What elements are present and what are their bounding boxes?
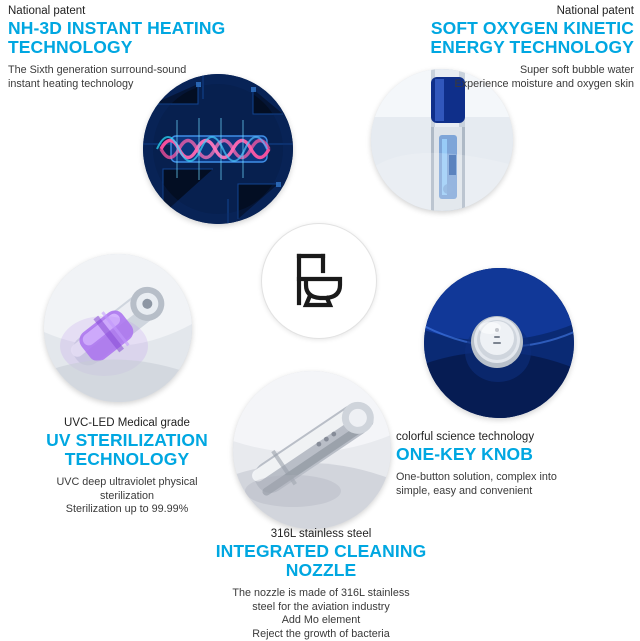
feature-nozzle-kicker: 316L stainless steel [182,527,460,541]
feature-uv-text: UVC-LED Medical grade UV STERILIZATION T… [2,416,252,517]
instant-heating-photo [143,74,293,224]
feature-heating-text: National patent NH-3D INSTANT HEATING TE… [8,4,268,91]
feature-heating-title: NH-3D INSTANT HEATING TECHNOLOGY [8,19,268,57]
feature-uv-title: UV STERILIZATION TECHNOLOGY [2,431,252,469]
feature-uv-desc: UVC deep ultraviolet physical sterilizat… [2,476,252,517]
stainless-nozzle-photo [233,371,391,529]
uv-nozzle-artwork [44,254,192,402]
uv-sterilization-photo [44,254,192,402]
feature-uv-kicker: UVC-LED Medical grade [2,416,252,430]
knob-artwork [424,268,574,418]
one-key-knob-photo [424,268,574,418]
feature-heating-desc: The Sixth generation surround-sound inst… [8,64,268,91]
feature-nozzle-title: INTEGRATED CLEANING NOZZLE [182,542,460,580]
feature-nozzle-text: 316L stainless steel INTEGRATED CLEANING… [182,527,460,641]
feature-oxygen-desc: Super soft bubble water Experience moist… [370,64,634,91]
feature-heating-kicker: National patent [8,4,268,18]
nozzle-artwork [233,371,391,529]
feature-knob-kicker: colorful science technology [396,430,636,444]
feature-oxygen-kicker: National patent [370,4,634,18]
feature-nozzle-desc: The nozzle is made of 316L stainless ste… [182,587,460,641]
feature-knob-title: ONE-KEY KNOB [396,445,636,464]
heating-circuit-artwork [143,74,293,224]
feature-oxygen-title: SOFT OXYGEN KINETIC ENERGY TECHNOLOGY [370,19,634,57]
infographic-stage: National patent NH-3D INSTANT HEATING TE… [0,0,640,634]
feature-oxygen-text: National patent SOFT OXYGEN KINETIC ENER… [370,4,634,91]
feature-knob-text: colorful science technology ONE-KEY KNOB… [396,430,636,498]
toilet-icon [290,253,348,309]
center-logo-circle [261,223,377,339]
feature-knob-desc: One-button solution, complex into simple… [396,471,636,498]
